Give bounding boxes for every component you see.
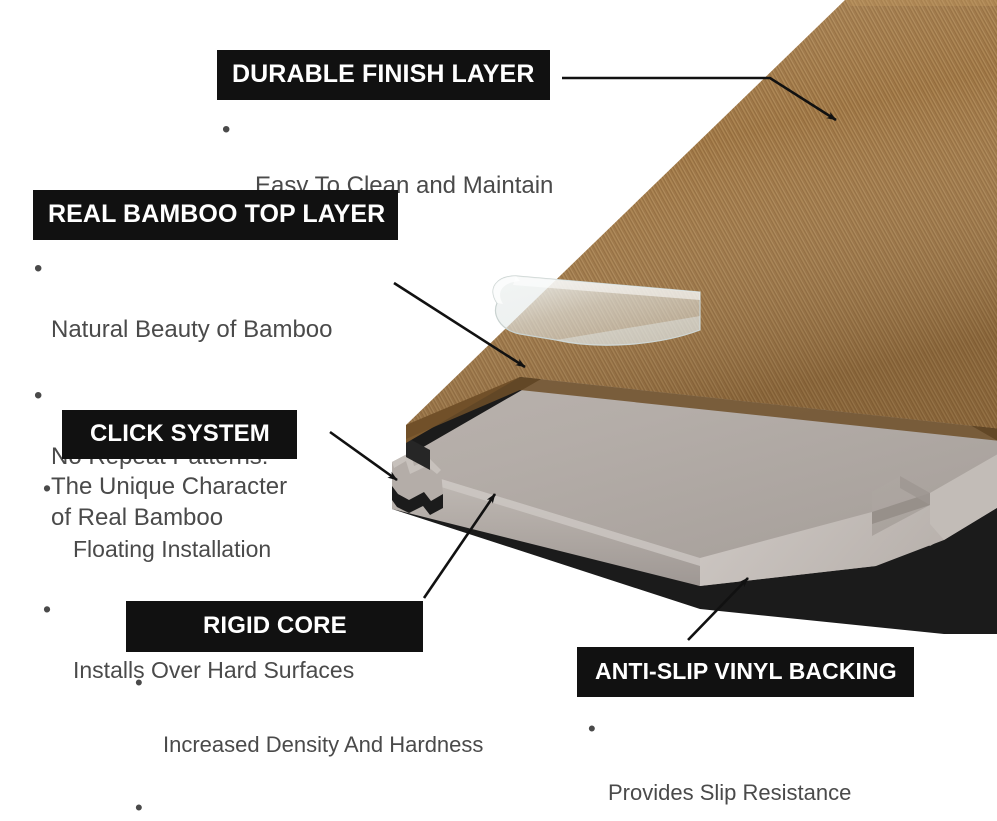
label-rigid-core: RIGID CORE <box>127 602 422 651</box>
list-item: • Floating Installation <box>43 473 354 594</box>
arrow-bamboo-top <box>394 283 525 367</box>
label-anti-slip-vinyl-backing: ANTI-SLIP VINYL BACKING <box>578 648 913 696</box>
bullet-icon: • <box>135 667 143 698</box>
bullet-icon: • <box>588 713 596 745</box>
arrow-durable-finish <box>562 78 836 120</box>
bullet-text: Floating Installation <box>73 534 354 564</box>
list-item: • Natural Beauty of Bamboo <box>34 254 397 376</box>
list-item: • Hides Sub-Floor Imperfections <box>135 792 483 821</box>
callout-anti-slip-vinyl-backing: ANTI-SLIP VINYL BACKING • Provides Slip … <box>578 648 913 821</box>
label-click-system: CLICK SYSTEM <box>63 411 296 458</box>
bullet-icon: • <box>222 116 230 144</box>
bullet-text: Natural Beauty of Bamboo <box>51 315 397 345</box>
adhesive-line-layer <box>406 258 997 470</box>
label-real-bamboo-top-layer: REAL BAMBOO TOP LAYER <box>34 191 397 239</box>
list-item: • Increased Density And Hardness <box>135 667 483 792</box>
callout-rigid-core: RIGID CORE • Increased Density And Hardn… <box>127 602 483 821</box>
click-lock-edge-profile <box>392 452 443 515</box>
bullet-icon: • <box>34 254 42 284</box>
bullet-icon: • <box>135 792 143 821</box>
anti-slip-vinyl-backing-layer <box>392 300 997 634</box>
infographic-canvas: DURABLE FINISH LAYER • Easy To Clean and… <box>0 0 997 821</box>
bullet-icon: • <box>34 381 42 411</box>
bullet-list-rigid-core: • Increased Density And Hardness • Hides… <box>127 667 483 821</box>
bullet-icon: • <box>43 594 51 624</box>
arrow-anti-slip <box>688 578 748 640</box>
list-item: • Provides Slip Resistance <box>588 713 913 821</box>
bullet-text: Increased Density And Hardness <box>163 729 483 760</box>
durable-finish-film-layer <box>493 276 700 345</box>
bullet-icon: • <box>43 473 51 503</box>
arrow-rigid-core <box>424 494 495 598</box>
bullet-list-anti-slip: • Provides Slip Resistance • Reduces Sou… <box>578 713 913 821</box>
bullet-text: Provides Slip Resistance <box>608 777 913 809</box>
label-durable-finish: DURABLE FINISH LAYER <box>218 51 549 99</box>
rigid-core-layer <box>392 277 997 586</box>
